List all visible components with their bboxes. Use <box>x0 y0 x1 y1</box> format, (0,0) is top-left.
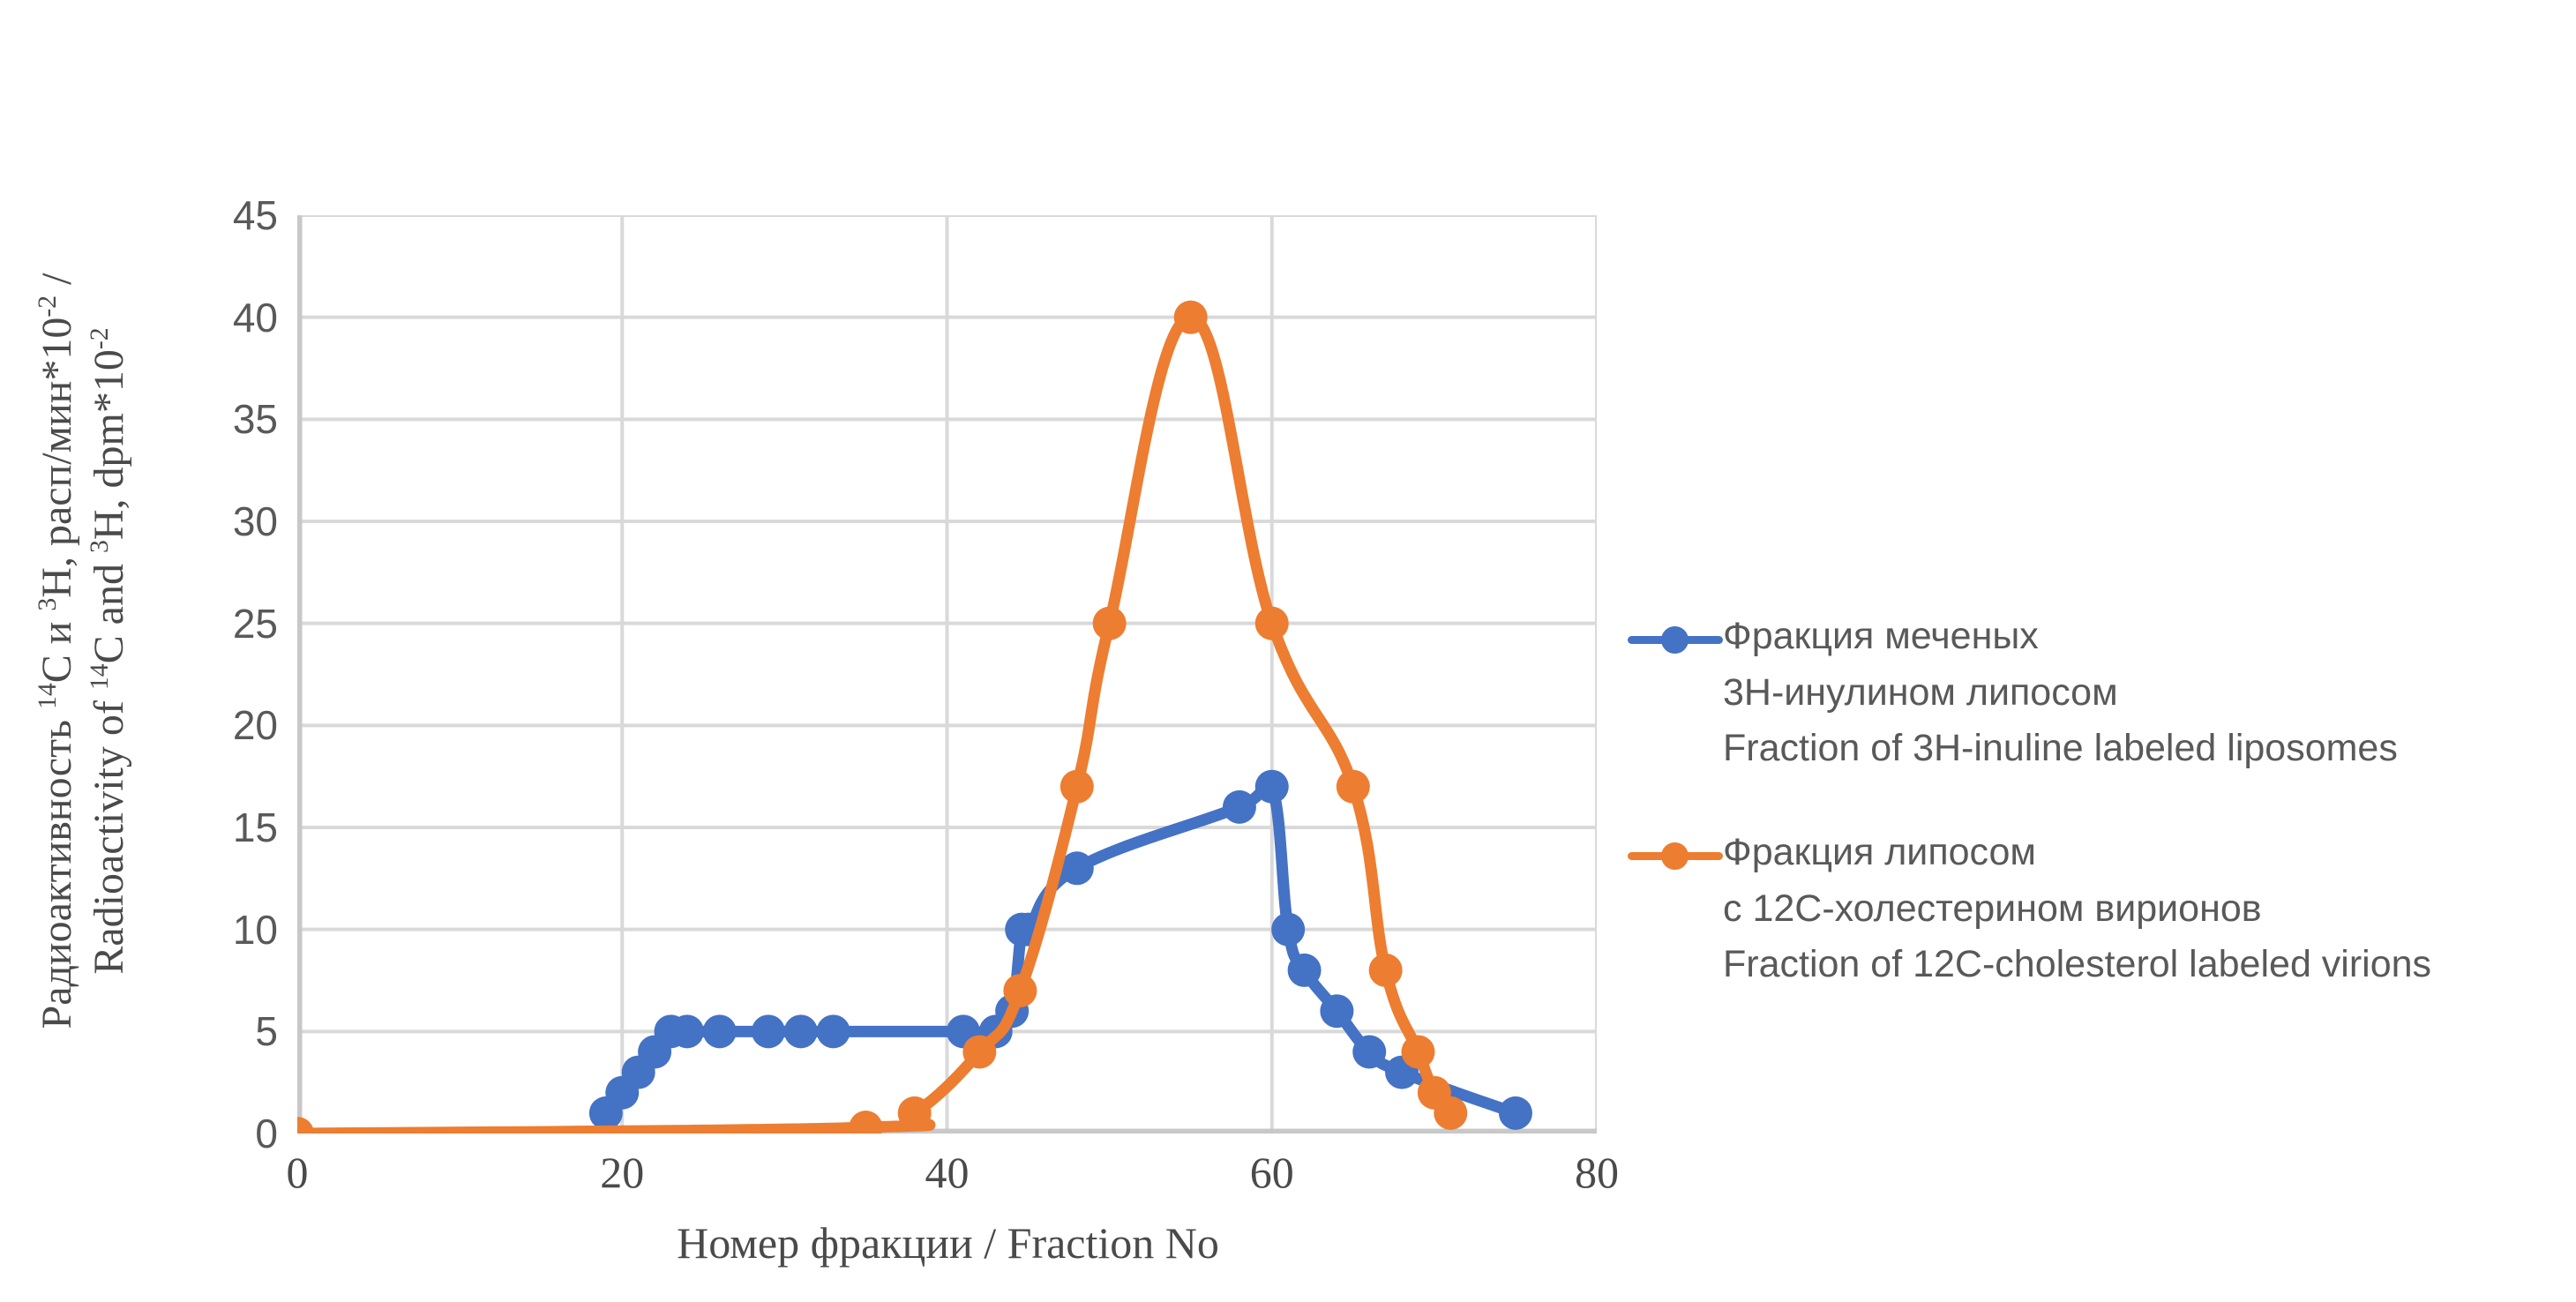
y-tick-label: 5 <box>172 1007 278 1055</box>
chart-canvas <box>297 215 1597 1134</box>
x-axis-title: Номер фракции / Fraction No <box>297 1217 1599 1268</box>
data-point[interactable] <box>1003 974 1037 1007</box>
y-tick-label: 20 <box>172 701 278 749</box>
data-point[interactable] <box>670 1014 704 1048</box>
series-2 <box>297 301 1467 1134</box>
data-point[interactable] <box>1288 954 1322 987</box>
data-point[interactable] <box>1093 607 1127 640</box>
y-tick-label: 45 <box>172 191 278 239</box>
legend-entry-2[interactable]: Фракция липосомс 12C-холестерином вирион… <box>1628 825 2563 993</box>
data-point[interactable] <box>1271 913 1305 947</box>
legend-label-line2: 3H-инулином липосом <box>1723 665 2398 722</box>
x-tick-label: 0 <box>236 1147 359 1198</box>
y-tick-label: 30 <box>172 498 278 545</box>
data-point[interactable] <box>1337 770 1370 804</box>
y-axis-title-line-1: Радиоактивность 14C и 3H, расп/мин*10-2 … <box>34 273 80 1029</box>
y-tick-label: 40 <box>172 294 278 341</box>
data-point[interactable] <box>1434 1096 1467 1130</box>
legend-label-line3: Fraction of 12C-cholesterol labeled viri… <box>1723 937 2431 993</box>
gridlines <box>297 215 1597 1134</box>
chart-legend: Фракция меченых3H-инулином липосомFracti… <box>1628 609 2563 1041</box>
x-tick-label: 80 <box>1535 1147 1659 1198</box>
y-axis-title-line-2: Radioactivity of 14C and 3H, dpm*10-2 <box>84 273 136 1029</box>
data-point[interactable] <box>1320 994 1353 1028</box>
legend-label: Фракция меченых3H-инулином липосомFracti… <box>1723 609 2398 777</box>
y-tick-label: 10 <box>172 906 278 954</box>
legend-label: Фракция липосомс 12C-холестерином вирион… <box>1723 825 2431 993</box>
data-series-layer <box>297 301 1532 1134</box>
series-1 <box>589 770 1532 1130</box>
x-tick-label: 60 <box>1210 1147 1334 1198</box>
legend-dot <box>1661 626 1689 654</box>
data-point[interactable] <box>1174 301 1208 334</box>
data-point[interactable] <box>1060 770 1094 804</box>
legend-entry-1[interactable]: Фракция меченых3H-инулином липосомFracti… <box>1628 609 2563 777</box>
data-point[interactable] <box>1255 607 1289 640</box>
data-point[interactable] <box>784 1014 818 1048</box>
y-axis-tick-labels: 051015202530354045 <box>163 215 278 1134</box>
x-tick-label: 40 <box>886 1147 1009 1198</box>
legend-marker-icon <box>1628 830 1723 879</box>
legend-label-line3: Fraction of 3H-inuline labeled liposomes <box>1723 721 2398 777</box>
y-axis-title-text: Радиоактивность 14C и 3H, расп/мин*10-2 … <box>32 273 135 1029</box>
data-point[interactable] <box>752 1014 785 1048</box>
data-point[interactable] <box>703 1014 737 1048</box>
legend-label-line1: Фракция липосом <box>1723 825 2431 881</box>
data-point[interactable] <box>297 1117 314 1134</box>
data-point[interactable] <box>1401 1035 1434 1068</box>
y-tick-label: 15 <box>172 804 278 851</box>
data-point[interactable] <box>849 1111 882 1134</box>
data-point[interactable] <box>1499 1096 1532 1130</box>
x-tick-label: 20 <box>560 1147 684 1198</box>
data-point[interactable] <box>1255 770 1289 804</box>
legend-marker-icon <box>1628 614 1723 663</box>
legend-dot <box>1661 842 1689 870</box>
legend-label-line1: Фракция меченых <box>1723 609 2398 665</box>
data-point[interactable] <box>1352 1035 1386 1068</box>
legend-label-line2: с 12C-холестерином вирионов <box>1723 881 2431 938</box>
data-point[interactable] <box>1223 790 1256 824</box>
data-point[interactable] <box>962 1035 996 1068</box>
y-tick-label: 25 <box>172 600 278 647</box>
plot-area <box>297 215 1597 1134</box>
data-point[interactable] <box>1369 954 1403 987</box>
x-axis-tick-labels: 020406080 <box>297 1147 1597 1208</box>
y-axis-title: Радиоактивность 14C и 3H, расп/мин*10-2 … <box>0 0 168 1302</box>
data-point[interactable] <box>817 1014 850 1048</box>
data-point[interactable] <box>898 1096 932 1130</box>
y-tick-label: 35 <box>172 395 278 443</box>
